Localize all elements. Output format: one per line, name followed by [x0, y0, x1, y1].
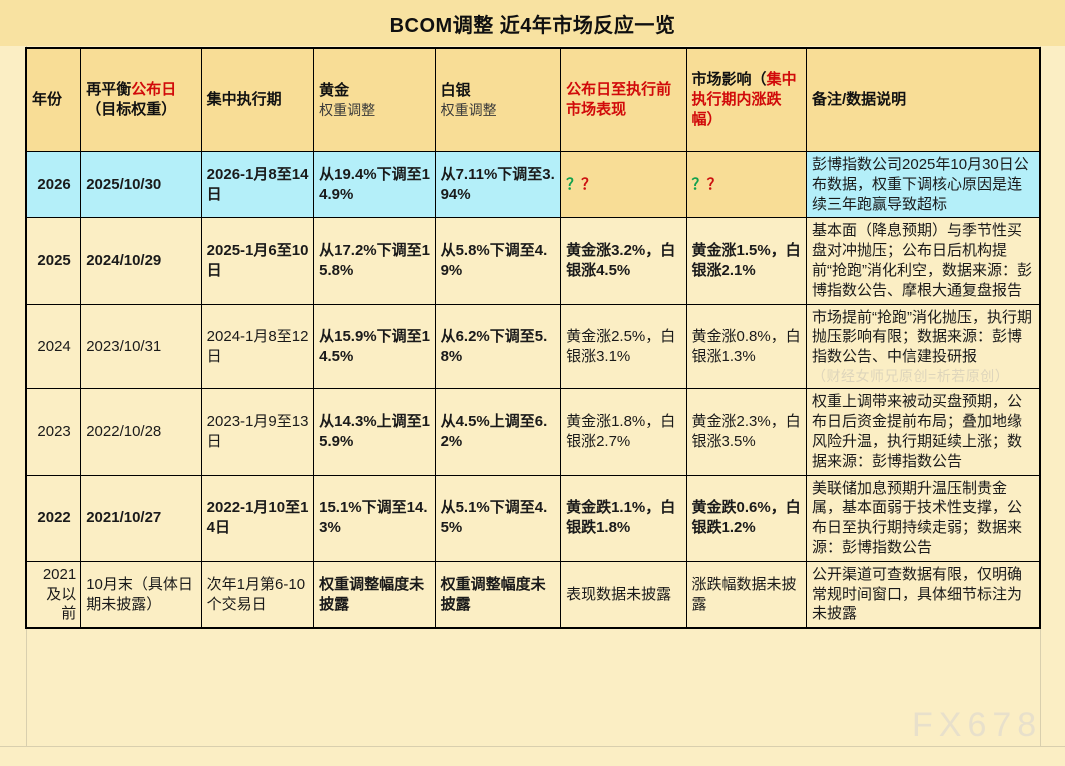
cell-year: 2022 — [27, 475, 81, 561]
cell-announce-date: 2024/10/29 — [81, 218, 201, 304]
cell-pre-exec-performance: 表现数据未披露 — [561, 561, 686, 627]
note-body: 彭博指数公司2025年10月30日公布数据，权重下调核心原因是连续三年跑赢导致超… — [812, 156, 1029, 213]
header-label-segment: 集中执行期 — [207, 91, 282, 108]
cell-year: 2024 — [27, 304, 81, 389]
note-body: 权重上调带来被动买盘预期，公布日后资金提前布局；叠加地缘风险升温，执行期延续上涨… — [812, 393, 1022, 469]
cell-silver-weight: 从6.2%下调至5.8% — [435, 304, 560, 389]
cell-year: 2025 — [27, 218, 81, 304]
sheet-bottom-margin — [0, 746, 1065, 766]
cell-market-impact: 黄金涨1.5%，白银涨2.1% — [686, 218, 806, 304]
cell-pre-exec-performance: 黄金涨1.8%，白银涨2.7% — [561, 389, 686, 475]
header-label-segment: 备注/数据说明 — [812, 91, 906, 108]
cell-gold-weight: 从19.4%下调至14.9% — [314, 152, 435, 218]
inline-watermark: （财经女师兄原创=析若原创） — [812, 367, 1035, 385]
cell-year: 2021及以前 — [27, 561, 81, 627]
cell-market-impact: ？？ — [686, 152, 806, 218]
note-body: 美联储加息预期升温压制贵金属，基本面弱于技术性支撑，公布日至执行期持续走弱；数据… — [812, 480, 1022, 556]
sheet-left-margin — [0, 46, 27, 765]
cell-year: 2023 — [27, 389, 81, 475]
header-cell-impact: 市场影响（集中执行期内涨跌幅） — [686, 49, 806, 152]
header-cell-exec: 集中执行期 — [201, 49, 313, 152]
cell-exec-window: 2024-1月8至12日 — [201, 304, 313, 389]
table-header: 年份 再平衡公布日（目标权重） 集中执行期 黄金权重调整 白银权重调整 公布日至… — [27, 49, 1040, 152]
unknown-marker: ？ — [707, 176, 722, 193]
cell-market-impact: 黄金涨2.3%，白银涨3.5% — [686, 389, 806, 475]
cell-notes: 市场提前“抢跑”消化抛压，执行期抛压影响有限；数据来源：彭博指数公告、中信建投研… — [807, 304, 1040, 389]
header-row: 年份 再平衡公布日（目标权重） 集中执行期 黄金权重调整 白银权重调整 公布日至… — [27, 49, 1040, 152]
header-label-segment: 再平衡 — [86, 81, 131, 98]
cell-announce-date: 2021/10/27 — [81, 475, 201, 561]
page-title: BCOM调整 近4年市场反应一览 — [390, 9, 676, 38]
cell-exec-window: 2025-1月6至10日 — [201, 218, 313, 304]
table-row: 20232022/10/282023-1月9至13日从14.3%上调至15.9%… — [27, 389, 1040, 475]
header-cell-notes: 备注/数据说明 — [807, 49, 1040, 152]
cell-notes: 彭博指数公司2025年10月30日公布数据，权重下调核心原因是连续三年跑赢导致超… — [807, 152, 1040, 218]
cell-gold-weight: 15.1%下调至14.3% — [314, 475, 435, 561]
header-label-segment: 公布日至执行前市场表现 — [566, 81, 671, 118]
note-body: 市场提前“抢跑”消化抛压，执行期抛压影响有限；数据来源：彭博指数公告、中信建投研… — [812, 309, 1032, 366]
cell-notes: 美联储加息预期升温压制贵金属，基本面弱于技术性支撑，公布日至执行期持续走弱；数据… — [807, 475, 1040, 561]
table-row: 20252024/10/292025-1月6至10日从17.2%下调至15.8%… — [27, 218, 1040, 304]
header-label-segment: 黄金 — [319, 82, 349, 99]
cell-market-impact: 黄金跌0.6%，白银跌1.2% — [686, 475, 806, 561]
header-label-segment: 白银 — [441, 82, 471, 99]
cell-pre-exec-performance: ？？ — [561, 152, 686, 218]
cell-silver-weight: 从5.8%下调至4.9% — [435, 218, 560, 304]
cell-notes: 公开渠道可查数据有限，仅明确常规时间窗口，具体细节标注为未披露 — [807, 561, 1040, 627]
bcom-rebalance-table: 年份 再平衡公布日（目标权重） 集中执行期 黄金权重调整 白银权重调整 公布日至… — [26, 48, 1040, 628]
header-label-segment: （目标权重） — [86, 101, 176, 118]
sheet-right-margin — [1040, 46, 1065, 765]
cell-gold-weight: 从17.2%下调至15.8% — [314, 218, 435, 304]
header-label-segment: 市场影响（ — [692, 71, 767, 88]
cell-silver-weight: 从7.11%下调至3.94% — [435, 152, 560, 218]
cell-pre-exec-performance: 黄金跌1.1%，白银跌1.8% — [561, 475, 686, 561]
cell-notes: 权重上调带来被动买盘预期，公布日后资金提前布局；叠加地缘风险升温，执行期延续上涨… — [807, 389, 1040, 475]
header-sublabel: 权重调整 — [319, 101, 430, 119]
cell-exec-window: 2022-1月10至14日 — [201, 475, 313, 561]
cell-market-impact: 涨跌幅数据未披露 — [686, 561, 806, 627]
header-cell-gold: 黄金权重调整 — [314, 49, 435, 152]
header-label-segment: 公布日 — [131, 81, 176, 98]
cell-gold-weight: 从14.3%上调至15.9% — [314, 389, 435, 475]
cell-gold-weight: 权重调整幅度未披露 — [314, 561, 435, 627]
header-cell-year: 年份 — [27, 49, 81, 152]
note-body: 基本面（降息预期）与季节性买盘对冲抛压；公布日后机构提前“抢跑”消化利空，数据来… — [812, 222, 1032, 298]
cell-silver-weight: 从5.1%下调至4.5% — [435, 475, 560, 561]
header-cell-announce: 再平衡公布日（目标权重） — [81, 49, 201, 152]
cell-silver-weight: 权重调整幅度未披露 — [435, 561, 560, 627]
cell-announce-date: 2025/10/30 — [81, 152, 201, 218]
cell-notes: 基本面（降息预期）与季节性买盘对冲抛压；公布日后机构提前“抢跑”消化利空，数据来… — [807, 218, 1040, 304]
note-body: 公开渠道可查数据有限，仅明确常规时间窗口，具体细节标注为未披露 — [812, 566, 1022, 623]
cell-announce-date: 2023/10/31 — [81, 304, 201, 389]
cell-gold-weight: 从15.9%下调至14.5% — [314, 304, 435, 389]
cell-silver-weight: 从4.5%上调至6.2% — [435, 389, 560, 475]
cell-year: 2026 — [27, 152, 81, 218]
cell-exec-window: 次年1月第6-10个交易日 — [201, 561, 313, 627]
cell-announce-date: 10月末（具体日期未披露） — [81, 561, 201, 627]
cell-pre-exec-performance: 黄金涨2.5%，白银涨3.1% — [561, 304, 686, 389]
cell-market-impact: 黄金涨0.8%，白银涨1.3% — [686, 304, 806, 389]
header-sublabel: 权重调整 — [441, 101, 556, 119]
cell-exec-window: 2023-1月9至13日 — [201, 389, 313, 475]
header-cell-preperf: 公布日至执行前市场表现 — [561, 49, 686, 152]
table-row: 20262025/10/302026-1月8至14日从19.4%下调至14.9%… — [27, 152, 1040, 218]
cell-exec-window: 2026-1月8至14日 — [201, 152, 313, 218]
unknown-marker: ？ — [692, 176, 707, 193]
cell-pre-exec-performance: 黄金涨3.2%，白银涨4.5% — [561, 218, 686, 304]
table-row: 20222021/10/272022-1月10至14日15.1%下调至14.3%… — [27, 475, 1040, 561]
title-banner: BCOM调整 近4年市场反应一览 — [0, 0, 1065, 46]
table-row: 2021及以前10月末（具体日期未披露）次年1月第6-10个交易日权重调整幅度未… — [27, 561, 1040, 627]
unknown-marker: ？ — [566, 176, 581, 193]
unknown-marker: ？ — [581, 176, 596, 193]
table-body: 20262025/10/302026-1月8至14日从19.4%下调至14.9%… — [27, 152, 1040, 628]
cell-announce-date: 2022/10/28 — [81, 389, 201, 475]
header-cell-silver: 白银权重调整 — [435, 49, 560, 152]
header-label-segment: 年份 — [32, 91, 62, 108]
table-row: 20242023/10/312024-1月8至12日从15.9%下调至14.5%… — [27, 304, 1040, 389]
